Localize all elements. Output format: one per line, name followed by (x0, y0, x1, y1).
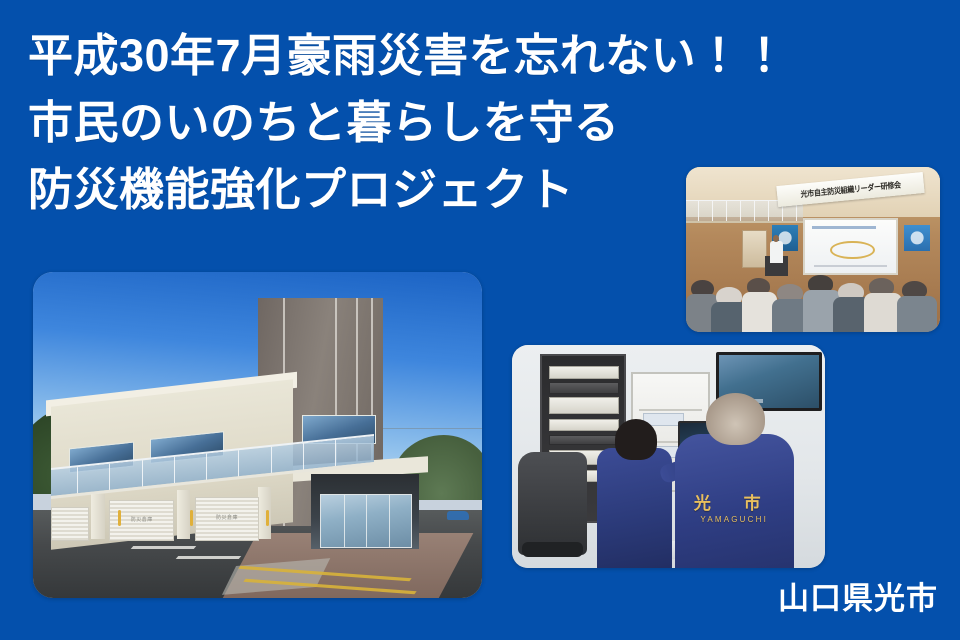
bollard (190, 510, 193, 526)
uniform-back-print: 光 市 YAMAGUCHI (694, 489, 775, 524)
side-panel (51, 507, 89, 542)
page-title: 平成30年7月豪雨災害を忘れない！！ 市民のいのちと暮らしを守る 防災機能強化プ… (28, 22, 728, 223)
power-lines (383, 428, 482, 429)
seminar-banner-text: 光市自主防災組織リーダー研修会 (801, 179, 902, 200)
parking-stripe (131, 546, 196, 549)
building-photo-inner: 防災倉庫 防災倉庫 (33, 272, 482, 598)
shutter-label: 防災倉庫 (216, 514, 238, 521)
issuer-label: 山口県光市 (778, 573, 938, 618)
audience-seating (686, 259, 940, 332)
uniform-kanji-text: 光 市 (694, 489, 775, 514)
storage-shutter: 防災倉庫 (195, 497, 260, 541)
attendee-body (897, 296, 938, 332)
shutter-label: 防災倉庫 (131, 516, 153, 523)
uniform-romaji-text: YAMAGUCHI (694, 515, 775, 524)
title-line-2: 市民のいのちと暮らしを守る (28, 89, 728, 156)
pillar (177, 490, 190, 539)
entrance-glass-door (320, 494, 412, 548)
staff-member-seated: 光 市 YAMAGUCHI (675, 434, 794, 568)
staff-member-pointing (597, 448, 672, 568)
title-line-1: 平成30年7月豪雨災害を忘れない！！ (28, 22, 728, 89)
poster-root: 平成30年7月豪雨災害を忘れない！！ 市民のいのちと暮らしを守る 防災機能強化プ… (0, 0, 960, 640)
control-photo-inner: 光 市 YAMAGUCHI (512, 345, 825, 568)
hair (706, 393, 765, 446)
title-line-3: 防災機能強化プロジェクト (28, 156, 728, 223)
photo-disaster-control-room: 光 市 YAMAGUCHI (512, 345, 825, 568)
office-chair (518, 452, 587, 555)
parking-stripe (175, 556, 240, 559)
pillar (91, 494, 104, 540)
flag-right (904, 225, 929, 251)
photo-disaster-prevention-building: 防災倉庫 防災倉庫 (33, 272, 482, 598)
bollard (118, 510, 121, 526)
parked-car (447, 511, 469, 520)
hair (615, 419, 657, 460)
